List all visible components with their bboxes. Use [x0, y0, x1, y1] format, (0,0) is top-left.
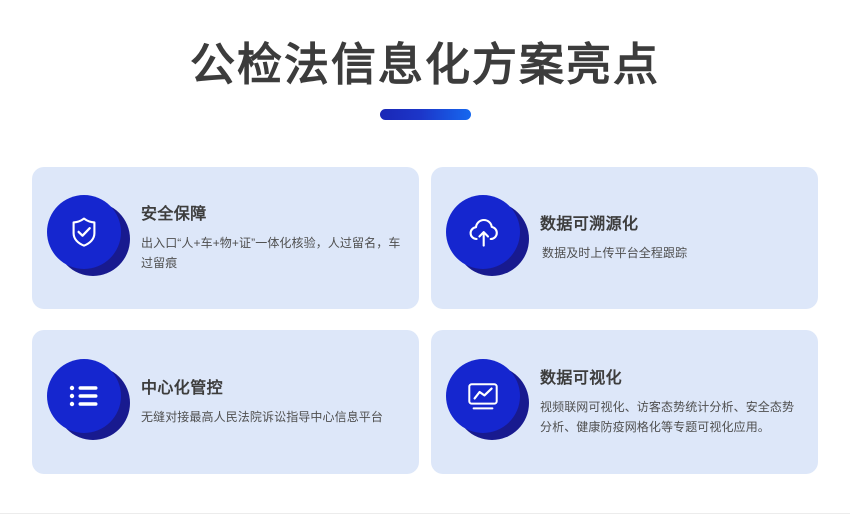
icon-circle: [47, 359, 121, 433]
shield-check-icon: [67, 215, 101, 249]
icon-circle: [446, 195, 520, 269]
title-underline-accent-bar: [380, 109, 471, 120]
card-title: 中心化管控: [141, 379, 383, 398]
feature-cards-grid: 安全保障 出入口“人+车+物+证”一体化核验，人过留名，车过留痕 数据可溯源化 …: [32, 167, 818, 474]
card-title: 数据可视化: [540, 369, 804, 388]
page-title: 公检法信息化方案亮点: [0, 38, 850, 91]
card-description: 无缝对接最高人民法院诉讼指导中心信息平台: [141, 408, 383, 427]
card-text-block: 安全保障 出入口“人+车+物+证”一体化核验，人过留名，车过留痕: [141, 203, 405, 273]
icon-badge: [446, 359, 536, 445]
card-text-block: 数据可视化 视频联网可视化、访客态势统计分析、安全态势分析、健康防疫网格化等专题…: [540, 367, 804, 437]
card-text-block: 中心化管控 无缝对接最高人民法院诉讼指导中心信息平台: [141, 377, 383, 428]
icon-circle: [47, 195, 121, 269]
icon-badge: [47, 195, 137, 281]
icon-circle: [446, 359, 520, 433]
card-title: 数据可溯源化: [540, 215, 687, 234]
chart-monitor-icon: [466, 380, 500, 412]
icon-badge: [446, 195, 536, 281]
feature-card-centralized-control[interactable]: 中心化管控 无缝对接最高人民法院诉讼指导中心信息平台: [32, 330, 419, 474]
cloud-upload-icon: [465, 215, 501, 249]
card-description: 视频联网可视化、访客态势统计分析、安全态势分析、健康防疫网格化等专题可视化应用。: [540, 398, 804, 437]
icon-badge: [47, 359, 137, 445]
card-description: 出入口“人+车+物+证”一体化核验，人过留名，车过留痕: [141, 234, 405, 273]
card-text-block: 数据可溯源化 数据及时上传平台全程跟踪: [540, 213, 687, 264]
card-title: 安全保障: [141, 205, 405, 224]
page-header: 公检法信息化方案亮点: [0, 0, 850, 120]
list-icon: [67, 382, 101, 410]
page-bottom-divider: [0, 513, 850, 514]
feature-card-security[interactable]: 安全保障 出入口“人+车+物+证”一体化核验，人过留名，车过留痕: [32, 167, 419, 309]
feature-card-data-traceability[interactable]: 数据可溯源化 数据及时上传平台全程跟踪: [431, 167, 818, 309]
feature-card-data-visualization[interactable]: 数据可视化 视频联网可视化、访客态势统计分析、安全态势分析、健康防疫网格化等专题…: [431, 330, 818, 474]
card-description: 数据及时上传平台全程跟踪: [540, 244, 687, 263]
